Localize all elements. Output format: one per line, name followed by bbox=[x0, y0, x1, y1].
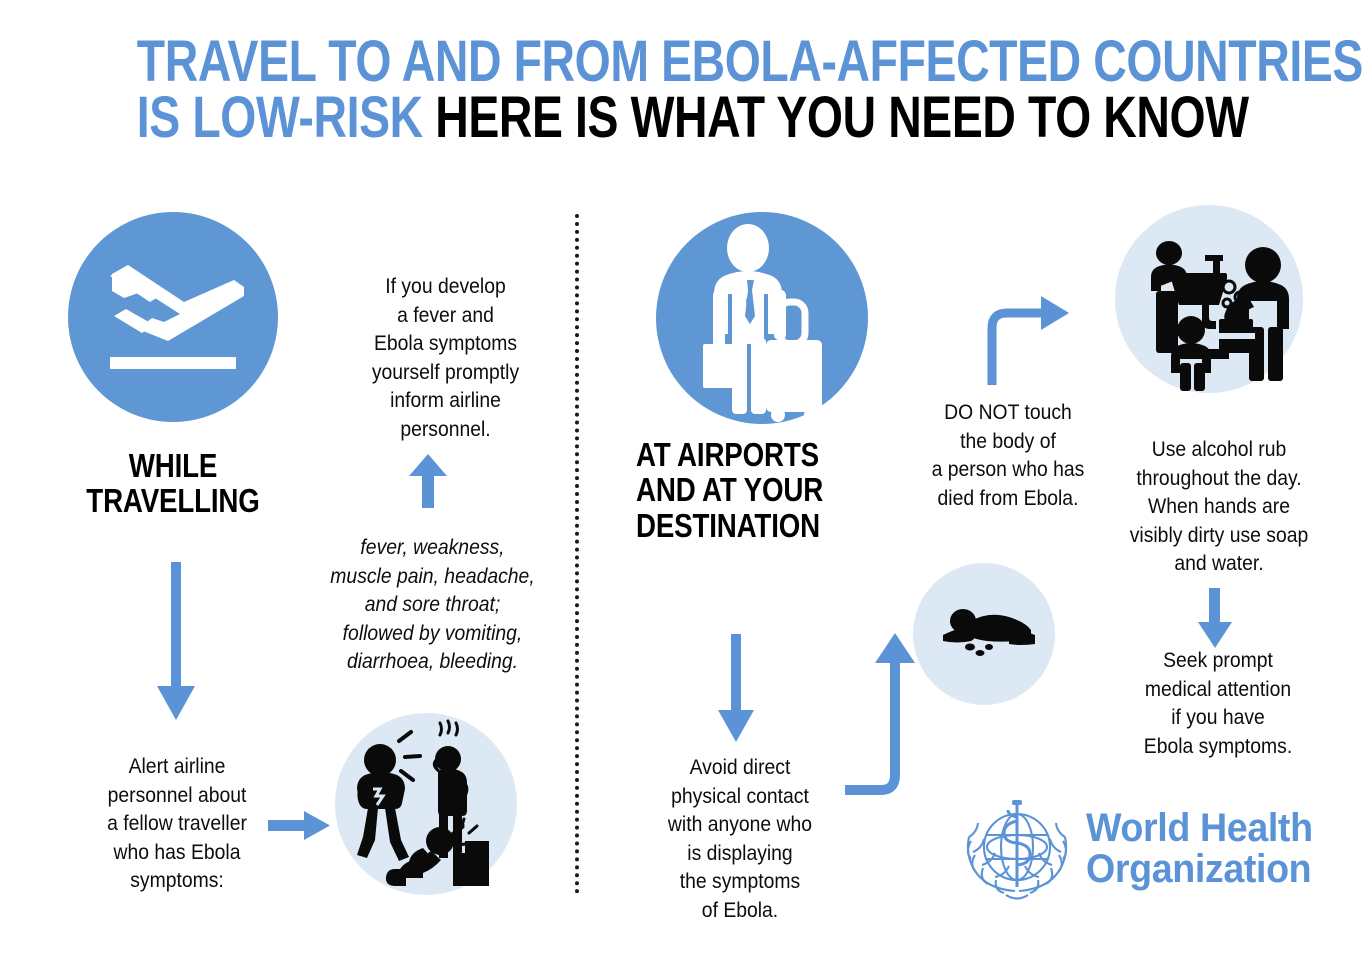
title-line-2-black: HERE IS WHAT YOU NEED TO KNOW bbox=[435, 85, 1248, 150]
heading-line-at-airports: AT AIRPORTS bbox=[636, 437, 888, 472]
departing-airplane-icon bbox=[68, 212, 278, 422]
avoid-contact-text: Avoid direct physical contact with anyon… bbox=[650, 753, 830, 925]
handwashing-with-soap-icon bbox=[1115, 205, 1303, 393]
section-heading-while-travelling: WHILE TRAVELLING bbox=[43, 448, 303, 519]
sick-people-symptoms-icon bbox=[335, 713, 517, 895]
traveller-with-luggage-icon bbox=[656, 212, 868, 424]
who-logo-line-1: World Health bbox=[1086, 808, 1313, 849]
arrow-right-to-symptom-icon bbox=[268, 806, 332, 846]
alcohol-rub-text: Use alcohol rub throughout the day. When… bbox=[1119, 435, 1319, 578]
who-logo-line-2: Organization bbox=[1086, 849, 1313, 890]
who-emblem-icon bbox=[958, 795, 1076, 903]
title-line-1: TRAVEL TO AND FROM EBOLA-AFFECTED COUNTR… bbox=[137, 34, 1231, 90]
arrow-curved-to-handwashing-icon bbox=[985, 290, 1075, 390]
inform-airline-text: If you develop a fever and Ebola symptom… bbox=[349, 272, 543, 444]
who-logo: World Health Organization bbox=[958, 795, 1327, 903]
page-title: TRAVEL TO AND FROM EBOLA-AFFECTED COUNTR… bbox=[0, 34, 1368, 145]
arrow-up-to-inform-text bbox=[400, 452, 456, 510]
ebola-symptoms-list-text: fever, weakness, muscle pain, headache, … bbox=[327, 533, 539, 676]
arrow-down-to-alert-text bbox=[152, 562, 200, 722]
title-line-2: IS LOW-RISK HERE IS WHAT YOU NEED TO KNO… bbox=[137, 90, 1231, 146]
vertical-dotted-divider bbox=[575, 214, 579, 894]
alert-airline-text: Alert airline personnel about a fellow t… bbox=[83, 752, 272, 895]
title-line-2-blue: IS LOW-RISK bbox=[137, 85, 423, 150]
heading-line-and-at-your: AND AT YOUR bbox=[636, 472, 888, 507]
who-logo-text: World Health Organization bbox=[1086, 808, 1313, 890]
arrow-down-to-avoid-text bbox=[712, 634, 760, 744]
heading-line-travelling: TRAVELLING bbox=[64, 483, 282, 518]
arrow-down-to-seek-help-text bbox=[1194, 588, 1236, 650]
section-heading-at-airports: AT AIRPORTS AND AT YOUR DESTINATION bbox=[636, 437, 936, 543]
heading-line-destination: DESTINATION bbox=[636, 508, 888, 543]
seek-medical-attention-text: Seek prompt medical attention if you hav… bbox=[1128, 646, 1308, 760]
heading-line-while: WHILE bbox=[64, 448, 282, 483]
do-not-touch-body-text: DO NOT touch the body of a person who ha… bbox=[927, 398, 1089, 512]
infographic-canvas: TRAVEL TO AND FROM EBOLA-AFFECTED COUNTR… bbox=[0, 0, 1368, 965]
deceased-body-icon bbox=[913, 563, 1055, 705]
